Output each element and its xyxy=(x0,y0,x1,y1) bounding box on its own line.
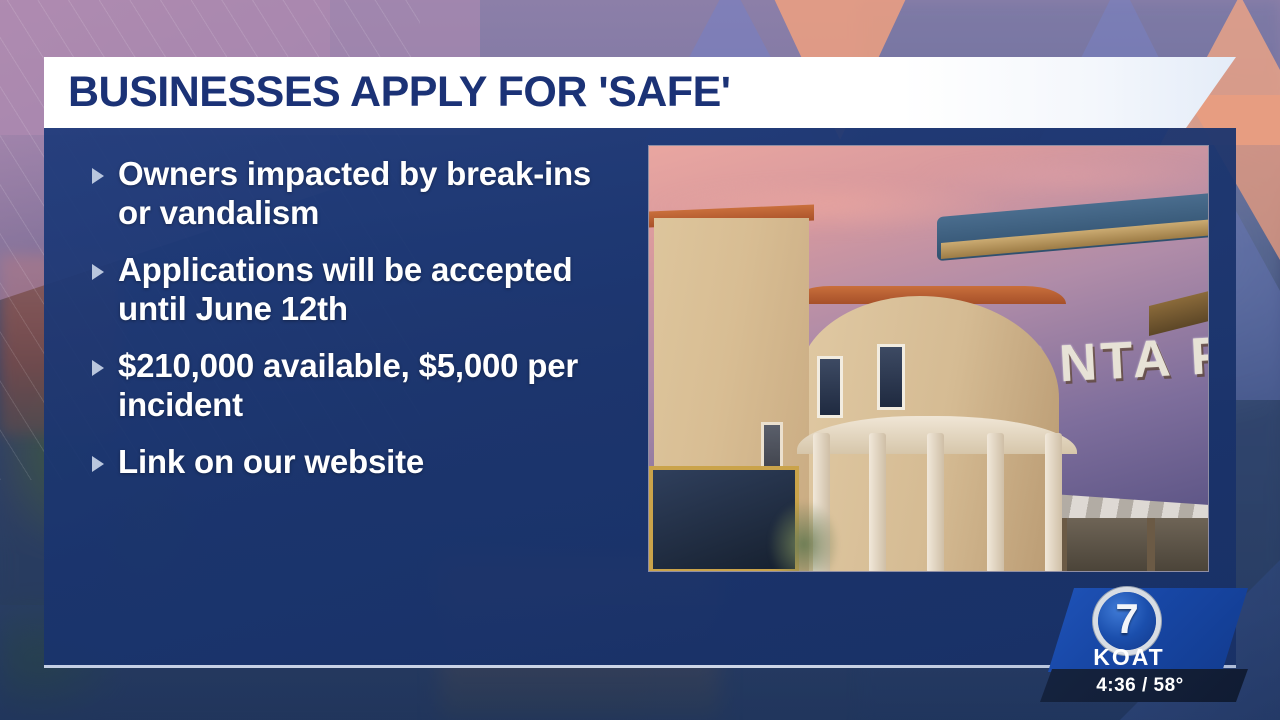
triangle-bullet-icon xyxy=(92,360,104,376)
photo-colonnade xyxy=(797,416,1077,572)
list-item: Link on our website xyxy=(92,443,622,482)
channel-number: 7 xyxy=(1115,598,1138,640)
story-photo: SANTA FE xyxy=(648,145,1209,572)
photo-column xyxy=(869,433,886,572)
time-temp-label: 4:36 / 58° xyxy=(1040,669,1240,702)
photo-column xyxy=(987,433,1004,572)
list-item-label: $210,000 available, $5,000 per incident xyxy=(118,347,622,425)
triangle-bullet-icon xyxy=(92,168,104,184)
photo-window xyxy=(817,356,843,418)
headline-bar: BUSINESSES APPLY FOR 'SAFE' xyxy=(44,57,1236,128)
bullet-list: Owners impacted by break-ins or vandalis… xyxy=(92,155,622,500)
list-item-label: Applications will be accepted until June… xyxy=(118,251,622,329)
channel-seven-icon: 7 xyxy=(1098,592,1156,650)
photo-window xyxy=(877,344,905,410)
list-item-label: Owners impacted by break-ins or vandalis… xyxy=(118,155,622,233)
list-item-label: Link on our website xyxy=(118,443,424,482)
photo-shrub xyxy=(769,501,839,572)
photo-window xyxy=(761,422,783,472)
photo-column xyxy=(927,433,944,572)
list-item: Applications will be accepted until June… xyxy=(92,251,622,329)
page-title: BUSINESSES APPLY FOR 'SAFE' xyxy=(68,68,730,117)
list-item: Owners impacted by break-ins or vandalis… xyxy=(92,155,622,233)
triangle-bullet-icon xyxy=(92,264,104,280)
photo-column xyxy=(1045,433,1062,572)
triangle-bullet-icon xyxy=(92,456,104,472)
station-callsign: KOAT xyxy=(1074,644,1184,671)
list-item: $210,000 available, $5,000 per incident xyxy=(92,347,622,425)
